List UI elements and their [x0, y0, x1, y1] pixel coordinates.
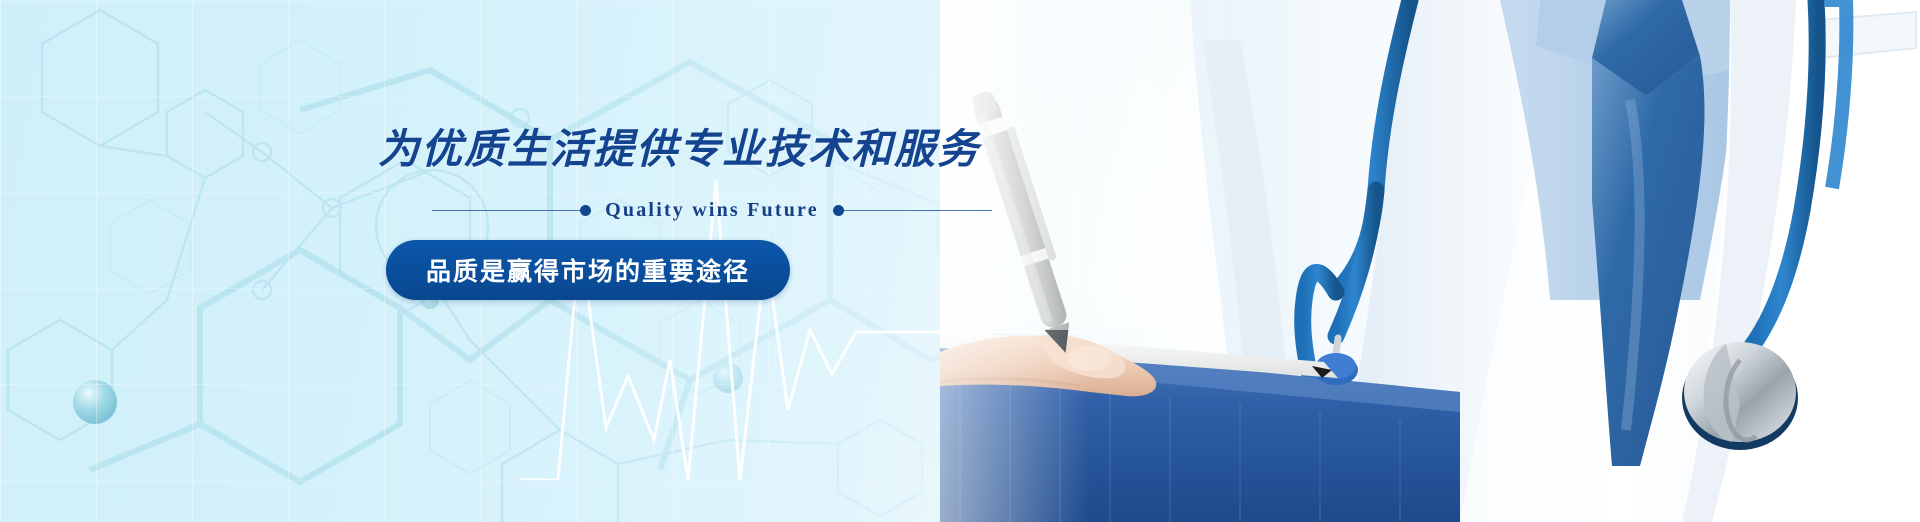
divider-dot-left [580, 205, 591, 216]
doctor-photo [940, 0, 1920, 522]
banner-text-block: 为优质生活提供专业技术和服务 Quality wins Future 品质是赢得… [378, 126, 1018, 300]
divider-dot-right [833, 205, 844, 216]
slogan-pill-button[interactable]: 品质是赢得市场的重要途径 [386, 240, 790, 300]
hero-banner: 为优质生活提供专业技术和服务 Quality wins Future 品质是赢得… [0, 0, 1920, 522]
page-title: 为优质生活提供专业技术和服务 [378, 126, 1018, 173]
divider-line-left [432, 210, 580, 211]
english-tagline: Quality wins Future [591, 199, 833, 222]
slogan-pill-label: 品质是赢得市场的重要途径 [426, 252, 750, 288]
divider-line-right [844, 210, 992, 211]
tagline-divider-row: Quality wins Future [432, 199, 992, 222]
